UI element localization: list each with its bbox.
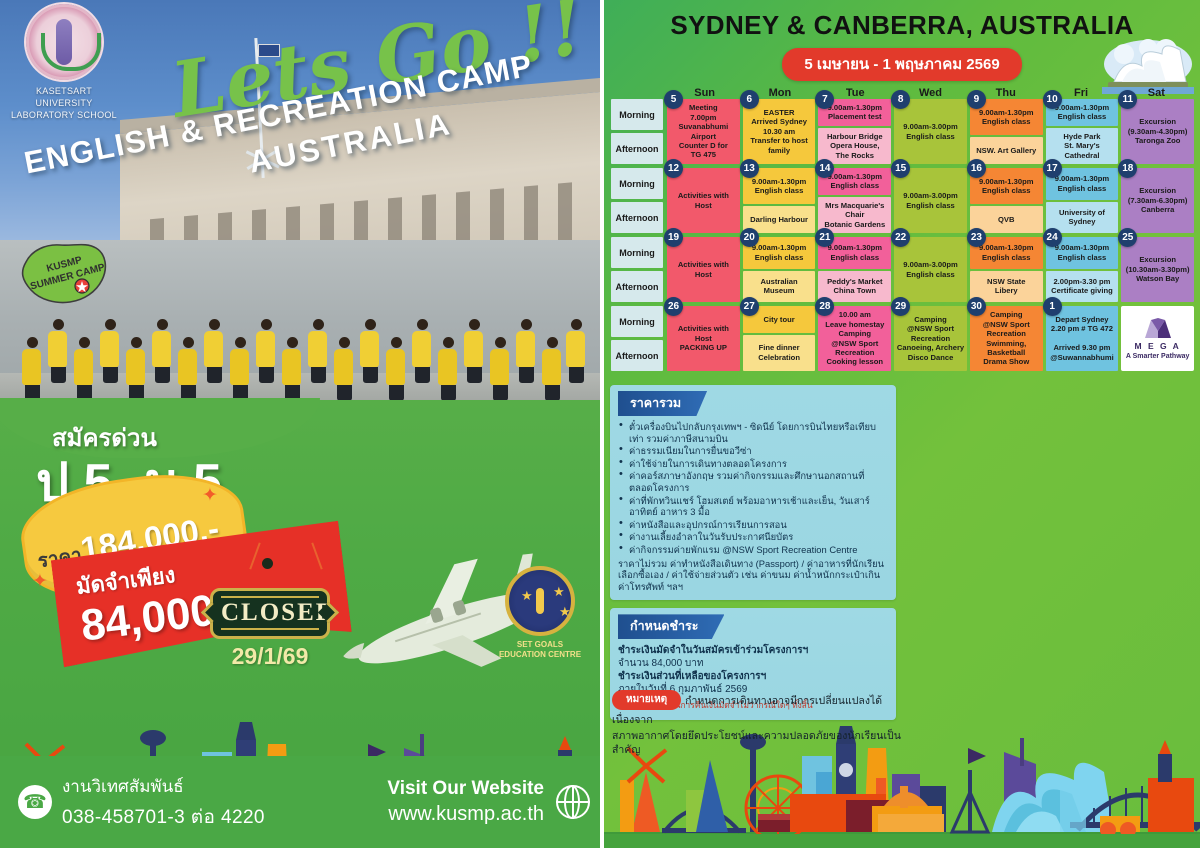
calendar-cell-afternoon: Mrs Macquarie's Chair Botanic Gardens bbox=[818, 197, 891, 233]
calendar-cell-afternoon: Peddy's Market China Town bbox=[818, 271, 891, 303]
calendar-day-cell[interactable]: 89.00am-3.00pm English class bbox=[894, 99, 967, 164]
payment-line2: จำนวน 84,000 บาท bbox=[618, 657, 888, 670]
date-range-badge: 5 เมษายน - 1 พฤษภาคม 2569 bbox=[782, 48, 1021, 81]
price-include-item: ค่าคอร์สภาษาอังกฤษ รวมค่ากิจกรรมและศึกษา… bbox=[618, 470, 888, 493]
calendar-row-labels: MorningAfternoon bbox=[611, 237, 667, 302]
remark-row: หมายเหตุกำหนดการเดินทางอาจมีการเปลี่ยนแป… bbox=[612, 690, 912, 757]
star-icon: ★ bbox=[521, 588, 533, 604]
calendar-day-cell[interactable]: 99.00am-1.30pm English classNSW. Art Gal… bbox=[970, 99, 1043, 164]
closed-label: CLOSED bbox=[221, 596, 319, 630]
calendar-row-labels: MorningAfternoon bbox=[611, 99, 667, 164]
price-include-item: ค่ากิจกรรมค่ายพักแรม @NSW Sport Recreati… bbox=[618, 544, 888, 556]
camp-poster: KASETSART UNIVERSITY LABORATORY SCHOOL L… bbox=[0, 0, 1200, 848]
calendar-day-cell[interactable]: 109.00am-1.30pm English classHyde Park S… bbox=[1046, 99, 1119, 164]
calendar-day-number: 27 bbox=[740, 297, 759, 316]
mega-tagline: A Smarter Pathway bbox=[1126, 353, 1190, 360]
calendar-day-number: 5 bbox=[664, 90, 683, 109]
ku-seal-icon bbox=[26, 4, 102, 80]
calendar-day-cell[interactable]: M E G AA Smarter Pathway bbox=[1121, 306, 1194, 371]
calendar-row-label: Afternoon bbox=[611, 133, 663, 164]
closed-plate: CLOSED bbox=[210, 588, 330, 639]
left-panel: KASETSART UNIVERSITY LABORATORY SCHOOL L… bbox=[0, 0, 604, 848]
calendar-day-cell[interactable]: 25Excursion (10.30am-3.30pm) Watson Bay bbox=[1121, 237, 1194, 302]
calendar-row-labels: MorningAfternoon bbox=[611, 168, 667, 233]
calendar-cells: 5Meeting 7.00pm Suvanabhumi Airport Coun… bbox=[667, 99, 1194, 164]
footer-office: งานวิเทศสัมพันธ์ bbox=[62, 773, 265, 800]
calendar-day-number: 6 bbox=[740, 90, 759, 109]
set-goals-line2: EDUCATION CENTRE bbox=[493, 650, 587, 660]
price-include-item: ค่าธรรมเนียมในการยื่นขอวีซ่า bbox=[618, 445, 888, 457]
calendar-cell-activity: 10.00 am Leave homestay Camping @NSW Spo… bbox=[818, 306, 891, 371]
phone-icon: ☎ bbox=[18, 785, 52, 819]
bottom-bar bbox=[604, 834, 1200, 848]
calendar-cell-activity: Depart Sydney 2.20 pm # TG 472 Arrived 9… bbox=[1046, 306, 1119, 371]
calendar-day-cell[interactable]: 29Camping @NSW Sport Recreation Canoeing… bbox=[894, 306, 967, 371]
footer-phone-number: 038-458701-3 ต่อ 4220 bbox=[62, 802, 265, 832]
calendar-day-cell[interactable]: 139.00am-1.30pm English classDarling Har… bbox=[743, 168, 816, 233]
calendar-cell-afternoon: Harbour Bridge Opera House, The Rocks bbox=[818, 128, 891, 164]
school-name-line1: KASETSART UNIVERSITY bbox=[8, 85, 120, 109]
remark-text2: สภาพอากาศโดยยึดประโยชน์และความปลอดภัยของ… bbox=[612, 729, 912, 757]
calendar-day-cell[interactable]: 239.00am-1.30pm English classNSW State L… bbox=[970, 237, 1043, 302]
program-calendar: Sun Mon Tue Wed Thu Fri Sat MorningAfter… bbox=[611, 87, 1194, 371]
footer-phone-text: งานวิเทศสัมพันธ์ 038-458701-3 ต่อ 4220 bbox=[62, 773, 265, 832]
calendar-body: MorningAfternoon5Meeting 7.00pm Suvanabh… bbox=[611, 99, 1194, 371]
closed-date: 29/1/69 bbox=[210, 643, 330, 670]
calendar-day-cell[interactable]: 149.00am-1.30pm English classMrs Macquar… bbox=[818, 168, 891, 233]
footer-web-text: Visit Our Website www.kusmp.ac.th bbox=[387, 778, 544, 826]
calendar-day-number: 13 bbox=[740, 159, 759, 178]
calendar-row-labels: MorningAfternoon bbox=[611, 306, 667, 371]
hanger-strings bbox=[228, 566, 312, 590]
calendar-cells: 12Activities with Host139.00am-1.30pm En… bbox=[667, 168, 1194, 233]
right-header: SYDNEY & CANBERRA, AUSTRALIA 5 เมษายน - … bbox=[604, 0, 1200, 81]
school-logo: KASETSART UNIVERSITY LABORATORY SCHOOL bbox=[8, 4, 120, 121]
price-include-item: ค่าหนังสือและอุปกรณ์การเรียนการสอน bbox=[618, 519, 888, 531]
payment-heading: กำหนดชำระ bbox=[618, 614, 724, 639]
calendar-day-cell[interactable]: 79.00am-1.30pm Placement testHarbour Bri… bbox=[818, 99, 891, 164]
calendar-cell-activity: 9.00am-3.00pm English class bbox=[894, 99, 967, 164]
panel-divider bbox=[600, 0, 604, 848]
calendar-week-row: MorningAfternoon26Activities with Host P… bbox=[611, 306, 1194, 371]
globe-icon bbox=[556, 785, 590, 819]
calendar-day-number: 10 bbox=[1043, 90, 1062, 109]
payment-line1: ชำระเงินมัดจำในวันสมัครเข้าร่วมโครงการฯ bbox=[618, 644, 888, 657]
price-include-item: ค่าที่พักทวินแชร์ โฮมสเตย์ พร้อมอาหารเช้… bbox=[618, 495, 888, 518]
calendar-cells: 26Activities with Host PACKING UP27City … bbox=[667, 306, 1194, 371]
right-panel: SYDNEY & CANBERRA, AUSTRALIA 5 เมษายน - … bbox=[604, 0, 1200, 848]
calendar-cell-afternoon: Fine dinner Celebration bbox=[743, 335, 816, 371]
calendar-day-cell[interactable]: 209.00am-1.30pm English classAustralian … bbox=[743, 237, 816, 302]
calendar-day-number: 20 bbox=[740, 228, 759, 247]
calendar-day-cell[interactable]: 5Meeting 7.00pm Suvanabhumi Airport Coun… bbox=[667, 99, 740, 164]
calendar-day-number: 9 bbox=[967, 90, 986, 109]
calendar-day-cell[interactable]: 30Camping @NSW Sport Recreation Swimming… bbox=[970, 306, 1043, 371]
calendar-day-cell[interactable]: 11Excursion (9.30am-4.30pm) Taronga Zoo bbox=[1121, 99, 1194, 164]
calendar-row-label: Afternoon bbox=[611, 340, 663, 371]
calendar-day-cell[interactable]: 19Activities with Host bbox=[667, 237, 740, 302]
calendar-day-number: 12 bbox=[664, 159, 683, 178]
calendar-day-cell[interactable]: 1Depart Sydney 2.20 pm # TG 472 Arrived … bbox=[1046, 306, 1119, 371]
price-includes-box: ราคารวม ตั๋วเครื่องบินไปกลับกรุงเทพฯ - ซ… bbox=[610, 385, 896, 600]
calendar-day-cell[interactable]: 27City tourFine dinner Celebration bbox=[743, 306, 816, 371]
star-icon: ★ bbox=[559, 604, 571, 620]
calendar-day-number: 17 bbox=[1043, 159, 1062, 178]
payment-line3: ชำระเงินส่วนที่เหลือของโครงการฯ bbox=[618, 670, 888, 683]
set-goals-icon: ★ ★ ★ bbox=[505, 566, 575, 636]
set-goals-text: SET GOALS EDUCATION CENTRE bbox=[493, 640, 587, 660]
calendar-day-cell[interactable]: 12Activities with Host bbox=[667, 168, 740, 233]
calendar-day-cell[interactable]: 18Excursion (7.30am-6.30pm) Canberra bbox=[1121, 168, 1194, 233]
set-goals-logo: ★ ★ ★ SET GOALS EDUCATION CENTRE bbox=[493, 566, 587, 660]
closed-sign: CLOSED 29/1/69 bbox=[210, 588, 330, 670]
calendar-row-label: Afternoon bbox=[611, 271, 663, 302]
calendar-row-label: Morning bbox=[611, 237, 663, 268]
calendar-cell-activity: 9.00am-3.00pm English class bbox=[894, 237, 967, 302]
calendar-cell-activity: Activities with Host bbox=[667, 168, 740, 233]
calendar-cell-activity: Activities with Host PACKING UP bbox=[667, 306, 740, 371]
calendar-day-cell[interactable]: 2810.00 am Leave homestay Camping @NSW S… bbox=[818, 306, 891, 371]
calendar-day-cell[interactable]: 229.00am-3.00pm English class bbox=[894, 237, 967, 302]
calendar-day-number: 26 bbox=[664, 297, 683, 316]
mega-m-icon bbox=[1143, 317, 1173, 339]
price-includes-heading: ราคารวม bbox=[618, 391, 707, 416]
calendar-cell-activity: 9.00am-3.00pm English class bbox=[894, 168, 967, 233]
footer-phone-block: ☎ งานวิเทศสัมพันธ์ 038-458701-3 ต่อ 4220 bbox=[18, 773, 265, 832]
price-include-item: ค่างานเลี้ยงอำลาในวันรับประกาศนียบัตร bbox=[618, 531, 888, 543]
calendar-row-label: Morning bbox=[611, 306, 663, 337]
calendar-cell-activity: Camping @NSW Sport Recreation Canoeing, … bbox=[894, 306, 967, 371]
calendar-day-number: 23 bbox=[967, 228, 986, 247]
left-footer: ☎ งานวิเทศสัมพันธ์ 038-458701-3 ต่อ 4220… bbox=[0, 756, 604, 848]
school-name: KASETSART UNIVERSITY LABORATORY SCHOOL bbox=[8, 85, 120, 121]
calendar-day-cell[interactable]: 169.00am-1.30pm English classQVB bbox=[970, 168, 1043, 233]
figure-icon bbox=[536, 588, 544, 614]
price-include-item: ตั๋วเครื่องบินไปกลับกรุงเทพฯ - ซิดนีย์ โ… bbox=[618, 421, 888, 444]
mega-logo: M E G AA Smarter Pathway bbox=[1121, 306, 1194, 371]
calendar-cell-afternoon: Hyde Park St. Mary's Cathedral bbox=[1046, 128, 1119, 164]
footer-web-block[interactable]: Visit Our Website www.kusmp.ac.th bbox=[387, 778, 590, 826]
calendar-row-label: Morning bbox=[611, 99, 663, 130]
calendar-day-number: 24 bbox=[1043, 228, 1062, 247]
right-title: SYDNEY & CANBERRA, AUSTRALIA bbox=[604, 10, 1200, 41]
mega-wordmark: M E G A bbox=[1135, 341, 1181, 351]
calendar-cell-activity: EASTER Arrived Sydney 10.30 am Transfer … bbox=[743, 99, 816, 164]
calendar-cell-activity: Camping @NSW Sport Recreation Swimming, … bbox=[970, 306, 1043, 371]
calendar-day-cell[interactable]: 26Activities with Host PACKING UP bbox=[667, 306, 740, 371]
set-goals-line1: SET GOALS bbox=[493, 640, 587, 650]
calendar-row-label: Afternoon bbox=[611, 202, 663, 233]
calendar-cells: 19Activities with Host209.00am-1.30pm En… bbox=[667, 237, 1194, 302]
remark-badge: หมายเหตุ bbox=[612, 690, 681, 710]
australia-map-badge: KUSMP SUMMER CAMP bbox=[12, 228, 116, 322]
promo-urgent-text: สมัครด่วน bbox=[52, 418, 222, 457]
calendar-day-cell[interactable]: 249.00am-1.30pm English class2.00pm-3.30… bbox=[1046, 237, 1119, 302]
calendar-row-label: Morning bbox=[611, 168, 663, 199]
footer-web-label: Visit Our Website bbox=[387, 778, 544, 800]
calendar-day-number: 19 bbox=[664, 228, 683, 247]
star-icon: ★ bbox=[553, 584, 565, 600]
footer-web-url[interactable]: www.kusmp.ac.th bbox=[387, 803, 544, 826]
calendar-cell-activity: Activities with Host bbox=[667, 237, 740, 302]
calendar-week-row: MorningAfternoon5Meeting 7.00pm Suvanabh… bbox=[611, 99, 1194, 164]
school-name-line2: LABORATORY SCHOOL bbox=[8, 109, 120, 121]
calendar-day-cell[interactable]: 6EASTER Arrived Sydney 10.30 am Transfer… bbox=[743, 99, 816, 164]
calendar-day-number: 30 bbox=[967, 297, 986, 316]
price-includes-list: ตั๋วเครื่องบินไปกลับกรุงเทพฯ - ซิดนีย์ โ… bbox=[618, 421, 888, 556]
calendar-day-cell[interactable]: 219.00am-1.30pm English classPeddy's Mar… bbox=[818, 237, 891, 302]
sparkle-icon: ✦ bbox=[202, 484, 218, 507]
calendar-week-row: MorningAfternoon19Activities with Host20… bbox=[611, 237, 1194, 302]
calendar-day-cell[interactable]: 179.00am-1.30pm English classUniversity … bbox=[1046, 168, 1119, 233]
calendar-cell-activity: Excursion (7.30am-6.30pm) Canberra bbox=[1121, 168, 1194, 233]
calendar-cell-activity: Meeting 7.00pm Suvanabhumi Airport Count… bbox=[667, 99, 740, 164]
calendar-day-cell[interactable]: 159.00am-3.00pm English class bbox=[894, 168, 967, 233]
calendar-day-number: 16 bbox=[967, 159, 986, 178]
price-excludes-note: ราคาไม่รวม ค่าทำหนังสือเดินทาง (Passport… bbox=[618, 558, 888, 593]
info-column: ราคารวม ตั๋วเครื่องบินไปกลับกรุงเทพฯ - ซ… bbox=[610, 385, 896, 728]
calendar-cell-activity: Excursion (9.30am-4.30pm) Taronga Zoo bbox=[1121, 99, 1194, 164]
price-include-item: ค่าใช้จ่ายในการเดินทางตลอดโครงการ bbox=[618, 458, 888, 470]
calendar-cell-activity: Excursion (10.30am-3.30pm) Watson Bay bbox=[1121, 237, 1194, 302]
calendar-day-number: 1 bbox=[1043, 297, 1062, 316]
calendar-week-row: MorningAfternoon12Activities with Host13… bbox=[611, 168, 1194, 233]
